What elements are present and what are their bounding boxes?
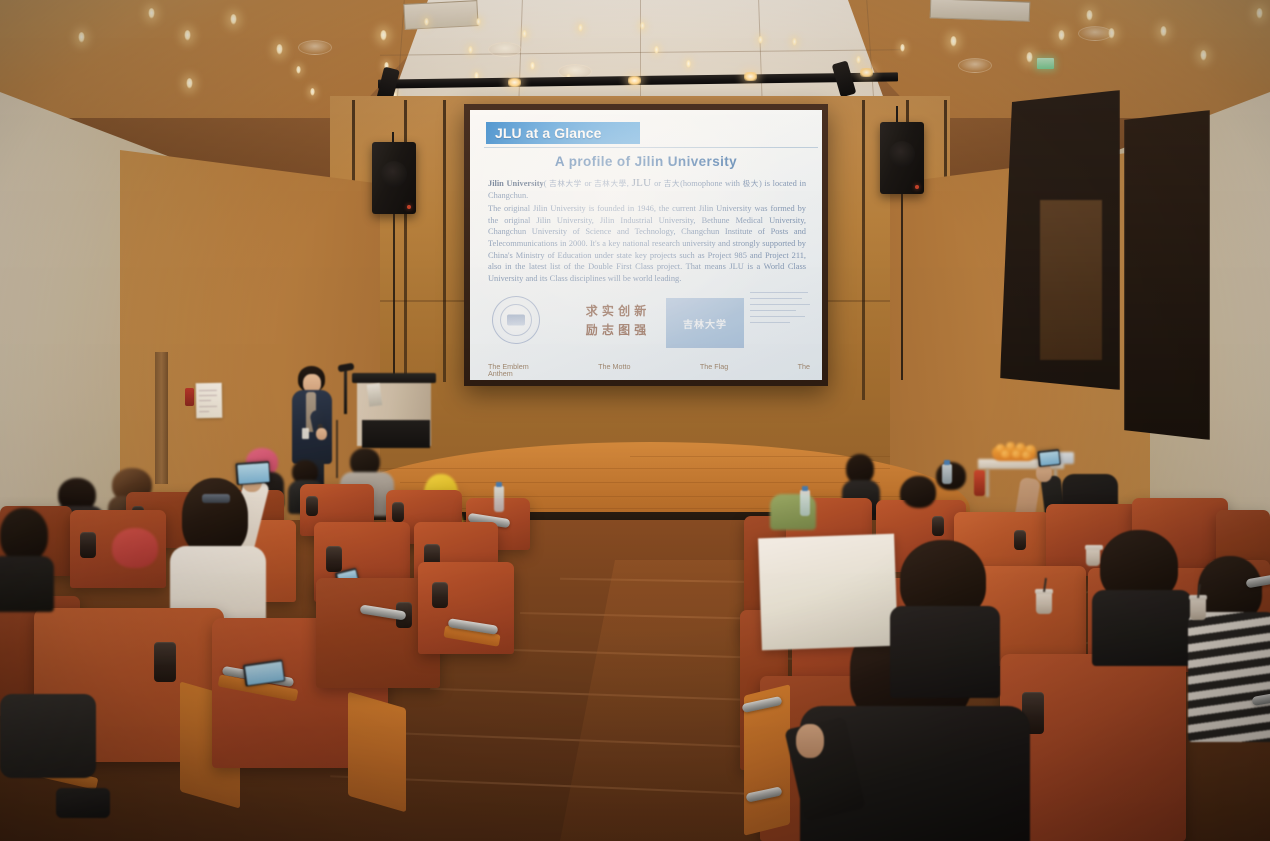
slide-or2: or bbox=[651, 179, 663, 188]
ceiling-vent bbox=[403, 0, 478, 30]
orange-fruit bbox=[1001, 450, 1010, 458]
slide-cn-homophone: 极大 bbox=[743, 179, 759, 188]
microphone-stand bbox=[344, 370, 347, 414]
speaker-led-icon bbox=[915, 185, 919, 189]
smartphone bbox=[235, 461, 270, 485]
paper-cup bbox=[1036, 592, 1052, 614]
water-bottle bbox=[494, 486, 504, 512]
slide-subtitle: A profile of Jilin University bbox=[470, 154, 822, 169]
projection-screen-frame: JLU at a Glance A profile of Jilin Unive… bbox=[464, 104, 828, 386]
paper-cup bbox=[1190, 598, 1206, 620]
seat-side-panel bbox=[348, 692, 406, 813]
bag-on-seat bbox=[0, 694, 96, 778]
hand bbox=[1036, 464, 1052, 482]
table-leg bbox=[986, 469, 989, 497]
university-flag: 吉林大学 bbox=[666, 298, 744, 348]
slide-banner: JLU at a Glance bbox=[486, 122, 640, 144]
slide-captions: The Emblem The Motto The Flag The bbox=[488, 362, 810, 371]
auditorium-photo: JLU at a Glance A profile of Jilin Unive… bbox=[0, 0, 1270, 841]
bag-on-seat bbox=[56, 788, 110, 818]
smartphone bbox=[1037, 449, 1061, 467]
ceiling-vent bbox=[930, 0, 1031, 22]
podium-base bbox=[362, 420, 430, 448]
fire-alarm bbox=[185, 388, 194, 406]
motto-line-2: 励 志 图 强 bbox=[556, 321, 676, 340]
alcove-interior bbox=[1040, 200, 1102, 360]
slide-or: or bbox=[582, 179, 594, 188]
podium-top bbox=[352, 373, 436, 383]
caption-the: The bbox=[798, 362, 810, 371]
slide-cn-name-traditional: 吉林大學 bbox=[594, 179, 627, 188]
wall-pillar bbox=[155, 352, 168, 484]
fire-extinguisher bbox=[974, 470, 985, 496]
caption-flag: The Flag bbox=[700, 362, 728, 371]
caption-motto: The Motto bbox=[598, 362, 630, 371]
flag-text: 吉林大学 bbox=[683, 316, 727, 331]
caption-anthem: Anthem bbox=[488, 369, 513, 378]
speaker-cone-icon bbox=[889, 141, 915, 167]
water-bottle bbox=[800, 490, 810, 516]
slide-abbreviation: JLU bbox=[632, 177, 652, 189]
speaker-led-icon bbox=[407, 205, 411, 209]
hand bbox=[796, 724, 824, 758]
head bbox=[182, 478, 248, 556]
orange-fruit bbox=[1006, 442, 1015, 450]
presenter-hand bbox=[316, 428, 327, 440]
slide-paragraph: The original Jilin University is founded… bbox=[488, 203, 806, 284]
motto-line-1: 求 实 创 新 bbox=[556, 302, 676, 321]
orange-fruit bbox=[1022, 451, 1031, 459]
emblem-core-icon bbox=[507, 315, 525, 326]
speaker-cone-icon bbox=[381, 161, 407, 187]
slide-cn-name-simplified: 吉林大学 bbox=[549, 179, 582, 188]
dark-doorway bbox=[1124, 110, 1210, 440]
orange-fruit bbox=[1012, 450, 1021, 458]
university-emblem-icon bbox=[492, 296, 540, 344]
projection-screen: JLU at a Glance A profile of Jilin Unive… bbox=[470, 110, 822, 380]
loudspeaker-right bbox=[880, 122, 924, 194]
slide-homophone: (homophone with bbox=[680, 179, 743, 188]
podium-monitor bbox=[367, 383, 383, 406]
paper-handout bbox=[758, 534, 898, 651]
slide-body-text: Jilin University( 吉林大学 or 吉林大學, JLU or 吉… bbox=[488, 178, 806, 284]
slide-cn-short: 吉大 bbox=[664, 179, 680, 188]
slide-lead: Jilin University bbox=[488, 179, 544, 188]
wall-notice bbox=[196, 383, 223, 418]
presenter-badge bbox=[302, 428, 309, 439]
slide-motto-calligraphy: 求 实 创 新 励 志 图 强 bbox=[556, 302, 676, 340]
anthem-lyrics-block bbox=[750, 292, 814, 328]
loudspeaker-left bbox=[372, 142, 416, 214]
water-bottle bbox=[942, 464, 952, 484]
exit-sign bbox=[1037, 58, 1054, 69]
slide-banner-title: JLU at a Glance bbox=[495, 125, 602, 141]
paper-cup bbox=[1086, 548, 1100, 566]
slide-divider bbox=[484, 147, 818, 148]
hair-clip bbox=[202, 494, 230, 503]
